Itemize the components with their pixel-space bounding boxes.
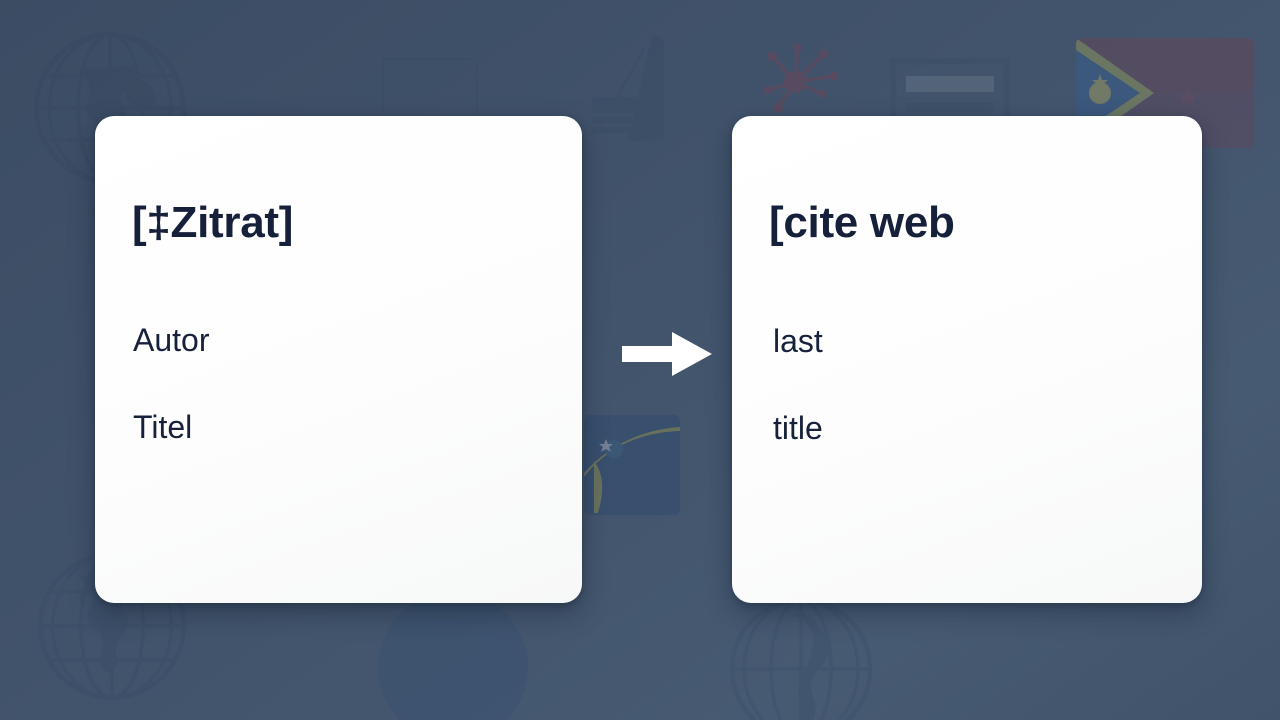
maps-to-arrow-icon xyxy=(618,328,716,380)
globe-icon xyxy=(726,594,876,720)
target-card-field-title: title xyxy=(773,410,823,447)
target-card-title: [cite web xyxy=(769,198,955,248)
target-template-card[interactable]: [cite web last title xyxy=(732,116,1202,603)
source-template-card[interactable]: [‡Zitrat] Autor Titel xyxy=(95,116,582,603)
circle-icon xyxy=(378,592,528,720)
diagram-canvas: [‡Zitrat] Autor Titel [cite web last tit… xyxy=(0,0,1280,720)
source-card-field-title: Titel xyxy=(133,409,192,446)
target-card-field-last: last xyxy=(773,323,823,360)
flag-icon xyxy=(584,415,680,515)
network-node-icon xyxy=(762,38,844,116)
balance-scale-icon xyxy=(570,33,680,145)
source-card-field-author: Autor xyxy=(133,322,209,359)
source-card-title: [‡Zitrat] xyxy=(132,198,293,248)
document-icon xyxy=(528,600,604,662)
